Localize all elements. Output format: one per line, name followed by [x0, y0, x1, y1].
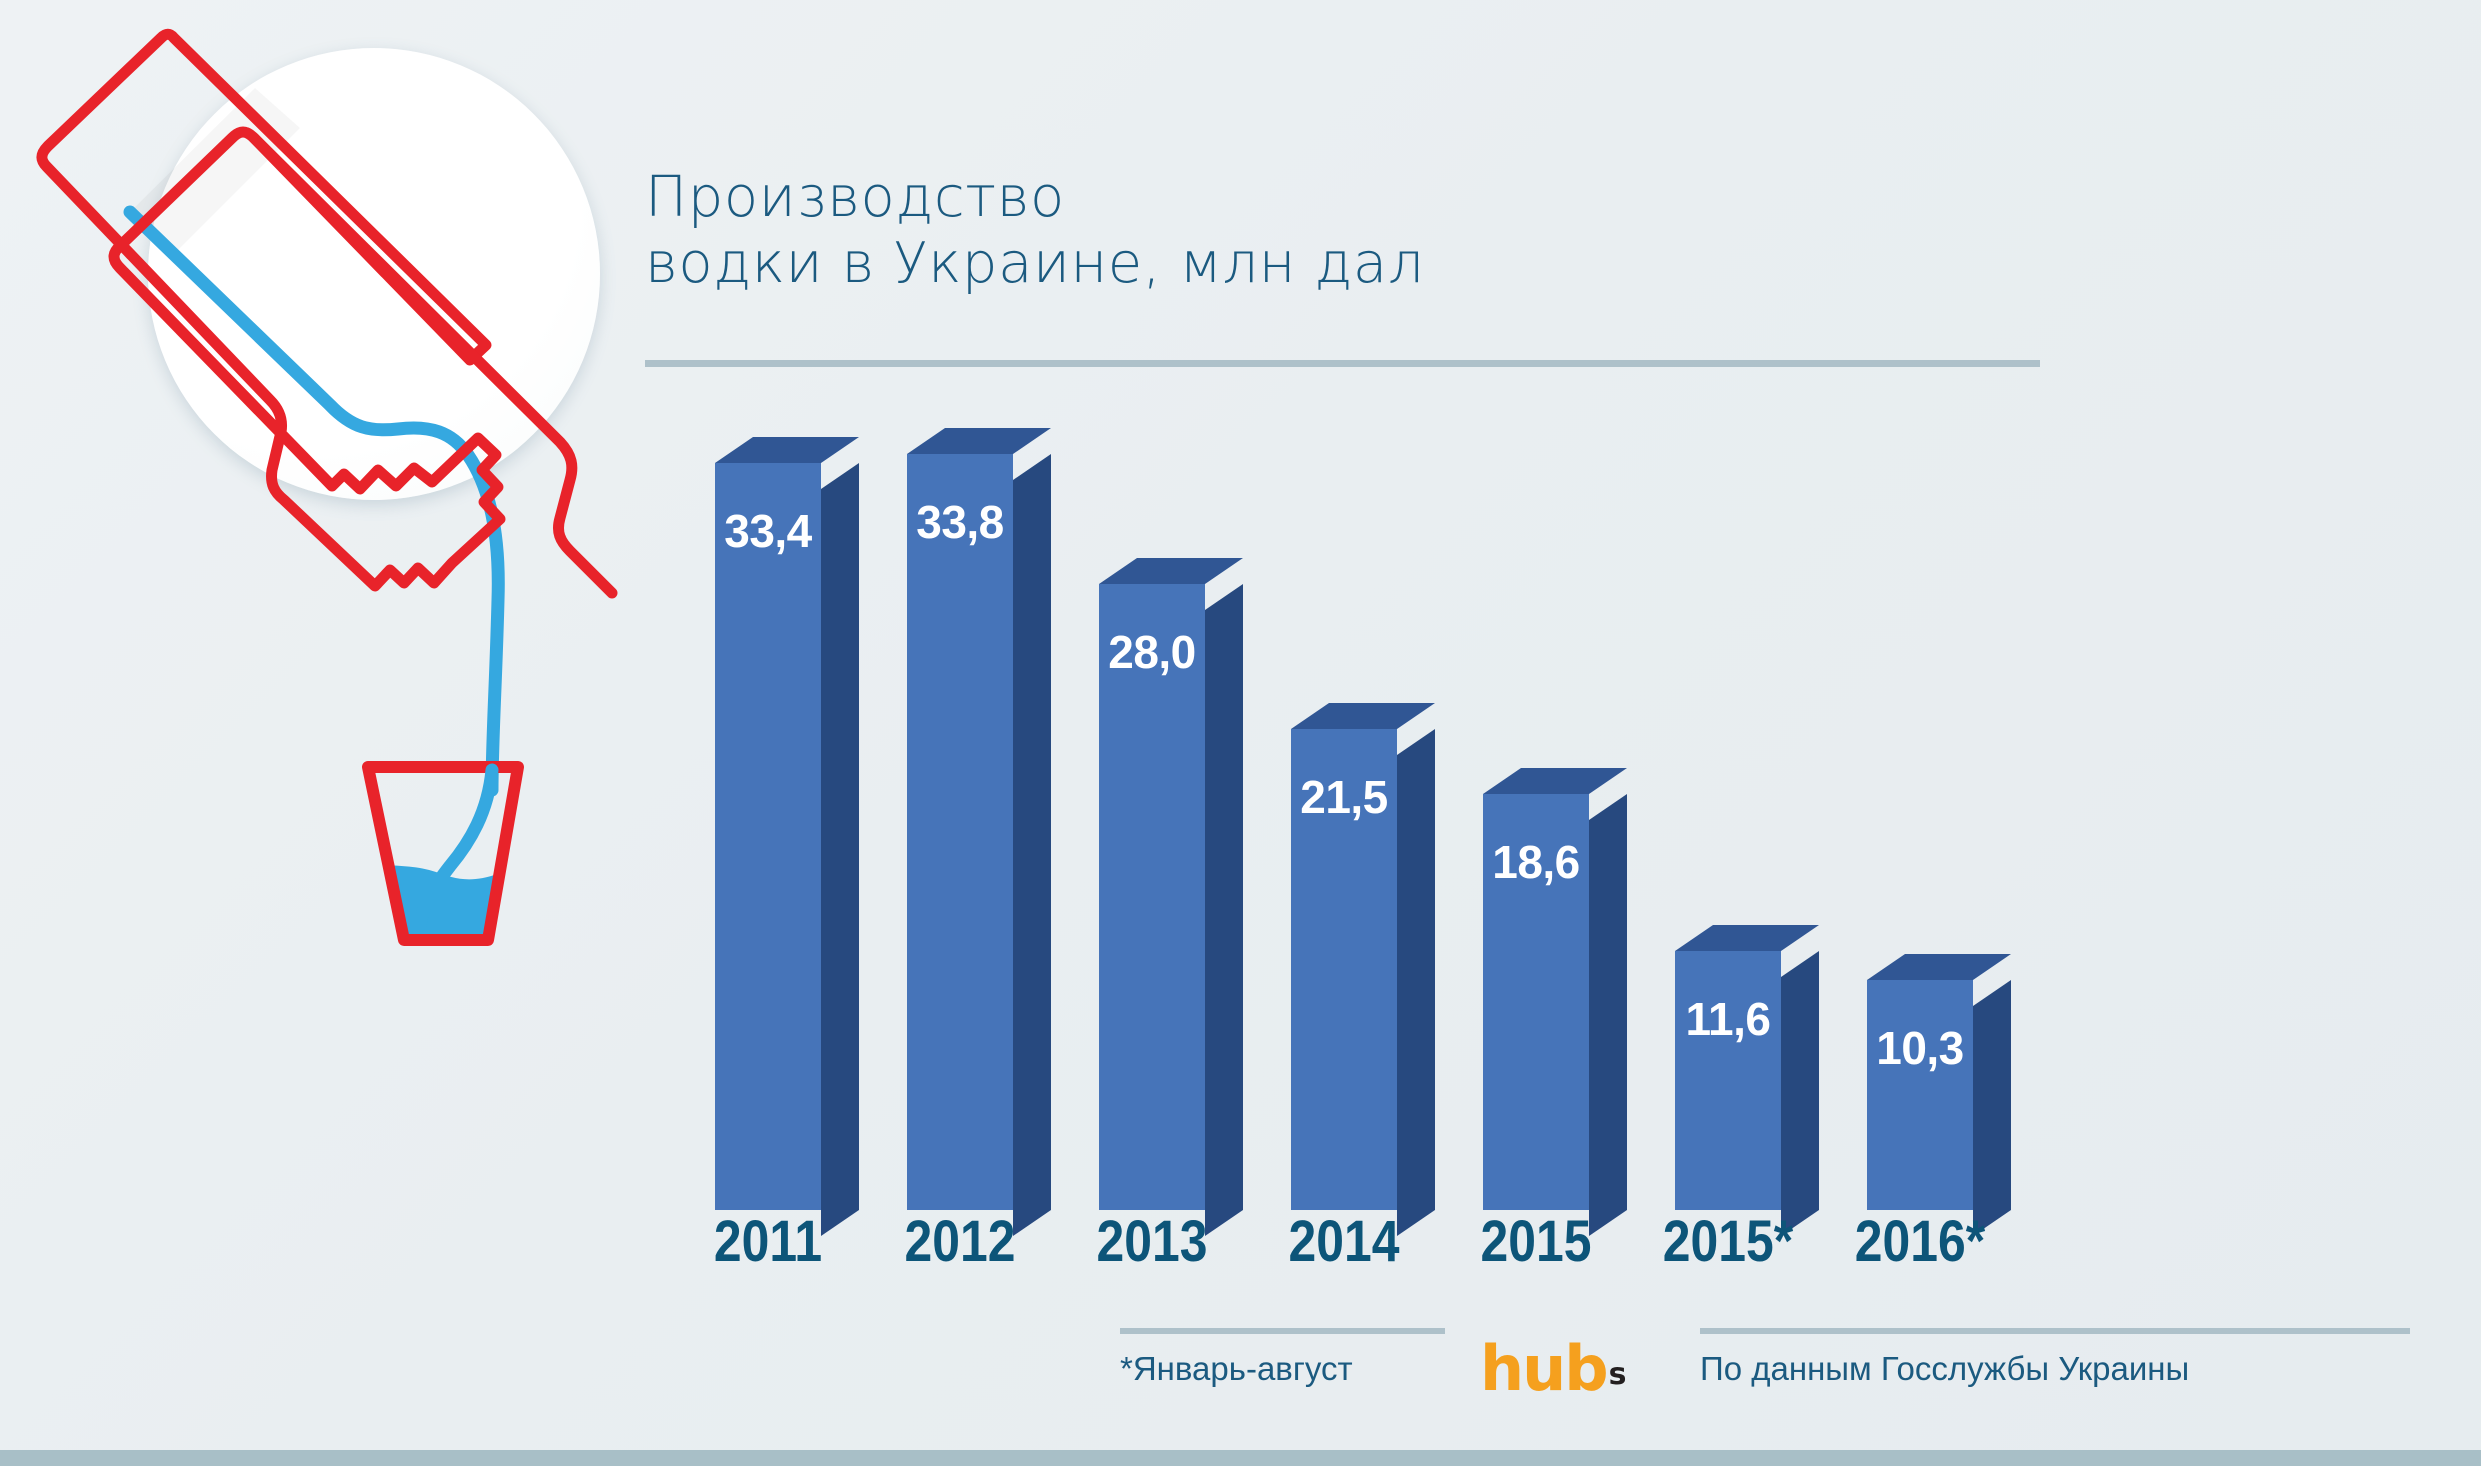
bar-side-face — [1013, 454, 1051, 1236]
bar-2013[interactable]: 28,0 — [1099, 558, 1243, 1210]
footer: *Январь-август hubs По данным Госслужбы … — [1120, 1328, 2420, 1438]
year-label-2011: 2011 — [695, 1208, 841, 1275]
bar-top-face — [1867, 954, 2011, 980]
bottle-and-glass-svg — [0, 0, 700, 1020]
year-label-2015: 2015 — [1463, 1208, 1609, 1275]
bar-2015-star[interactable]: 11,6 — [1675, 925, 1819, 1210]
x-axis-labels: 201120122013201420152015*2016* — [645, 1208, 2145, 1278]
bar-top-face — [907, 428, 1051, 454]
bar-2012[interactable]: 33,8 — [907, 428, 1051, 1210]
bottle-illustration — [0, 0, 700, 1020]
year-label-2016-star: 2016* — [1847, 1208, 1993, 1275]
bar-chart: 33,433,828,021,518,611,610,3 — [645, 380, 2145, 1210]
bar-value-label: 10,3 — [1867, 1021, 1973, 1075]
title-line-2: водки в Украине, млн дал — [645, 231, 2065, 297]
year-label-2014: 2014 — [1271, 1208, 1417, 1275]
bar-value-label: 11,6 — [1675, 992, 1781, 1046]
infographic-canvas: Производство водки в Украине, млн дал 33… — [0, 0, 2481, 1466]
bar-front-face — [1675, 951, 1781, 1210]
bar-front-face — [715, 463, 821, 1210]
bottom-accent-bar — [0, 1450, 2481, 1466]
title-line-1: Производство — [645, 165, 2065, 231]
bar-2011[interactable]: 33,4 — [715, 437, 859, 1210]
hubs-logo[interactable]: hubs — [1480, 1332, 1627, 1405]
bar-side-face — [1781, 951, 1819, 1236]
title-divider — [645, 360, 2040, 367]
logo-wordmark: hub — [1480, 1332, 1607, 1405]
footnote-divider — [1120, 1328, 1445, 1334]
bar-front-face — [907, 454, 1013, 1210]
footnote-text: *Январь-август — [1120, 1350, 1353, 1388]
bar-top-face — [715, 437, 859, 463]
bar-value-label: 33,8 — [907, 495, 1013, 549]
bar-value-label: 21,5 — [1291, 770, 1397, 824]
source-text: По данным Госслужбы Украины — [1700, 1350, 2189, 1388]
bar-value-label: 28,0 — [1099, 625, 1205, 679]
bar-top-face — [1291, 703, 1435, 729]
bar-2014[interactable]: 21,5 — [1291, 703, 1435, 1210]
year-label-2012: 2012 — [887, 1208, 1033, 1275]
year-label-2015-star: 2015* — [1655, 1208, 1801, 1275]
bar-side-face — [1205, 584, 1243, 1236]
bar-value-label: 33,4 — [715, 504, 821, 558]
bar-side-face — [1589, 794, 1627, 1236]
bar-side-face — [1973, 980, 2011, 1236]
page-title: Производство водки в Украине, млн дал — [645, 165, 2065, 297]
bar-top-face — [1483, 768, 1627, 794]
bar-front-face — [1867, 980, 1973, 1210]
bar-side-face — [821, 463, 859, 1236]
source-divider — [1700, 1328, 2410, 1334]
logo-superscript: s — [1609, 1357, 1627, 1392]
bar-2015[interactable]: 18,6 — [1483, 768, 1627, 1210]
bar-top-face — [1099, 558, 1243, 584]
bar-top-face — [1675, 925, 1819, 951]
bar-side-face — [1397, 729, 1435, 1236]
bar-2016-star[interactable]: 10,3 — [1867, 954, 2011, 1210]
bar-value-label: 18,6 — [1483, 835, 1589, 889]
year-label-2013: 2013 — [1079, 1208, 1225, 1275]
